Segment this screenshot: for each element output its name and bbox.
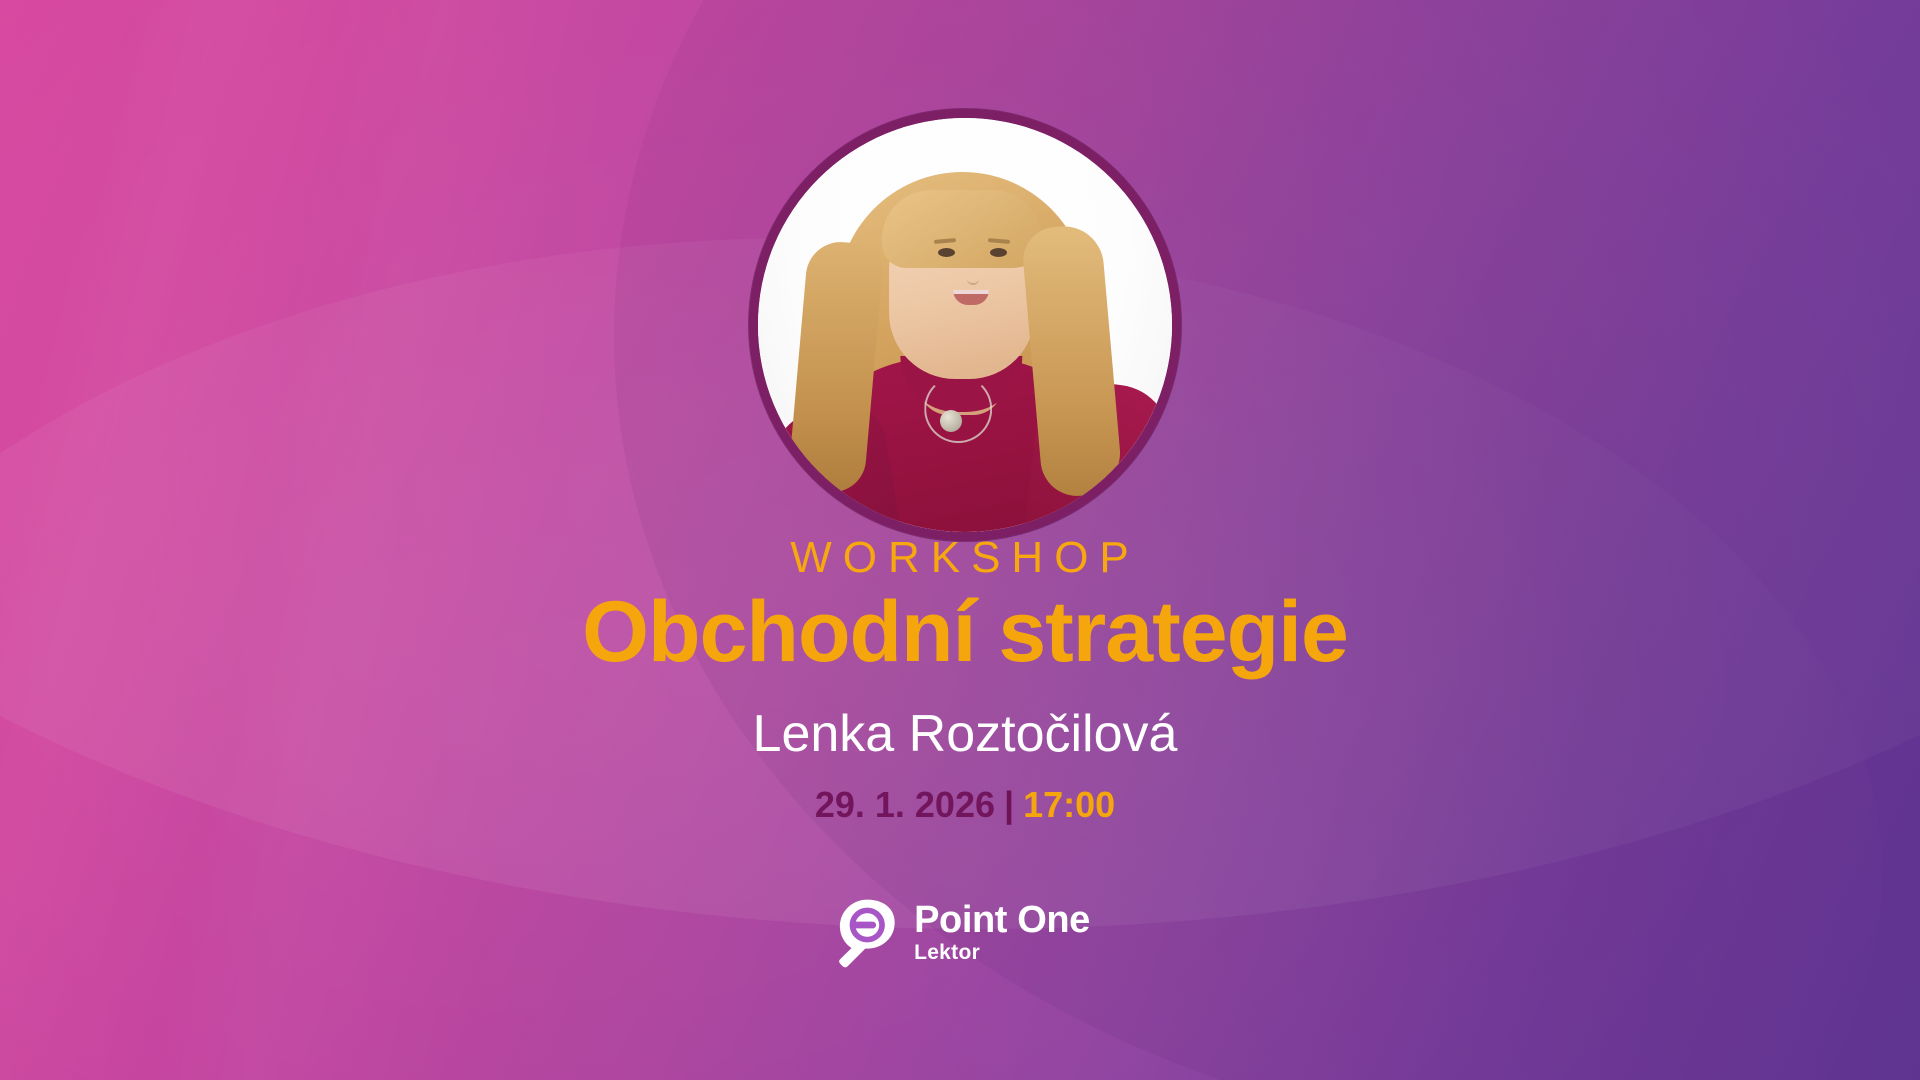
portrait-fringe (882, 190, 1042, 268)
portrait-nose (967, 269, 979, 285)
location-pin-icon (834, 898, 900, 968)
workshop-banner: WORKSHOP Obchodní strategie Lenka Roztoč… (0, 0, 1920, 1080)
event-date: 29. 1. 2026 (815, 782, 995, 827)
datetime-separator: | (1004, 782, 1014, 827)
event-datetime: 29. 1. 2026 | 17:00 (815, 782, 1115, 827)
brand-subtitle: Lektor (914, 941, 1090, 965)
portrait-pendant (940, 410, 962, 432)
brand-name: Point One (914, 901, 1090, 940)
speaker-name: Lenka Roztočilová (753, 703, 1178, 765)
brand-logo: Point One Lektor (834, 898, 1090, 968)
portrait-necklace (924, 375, 992, 443)
banner-content: WORKSHOP Obchodní strategie Lenka Roztoč… (0, 0, 1920, 1080)
event-time: 17:00 (1023, 782, 1115, 827)
eyebrow-label: WORKSHOP (790, 536, 1140, 580)
portrait-photo (758, 118, 1172, 532)
speaker-portrait (749, 109, 1181, 541)
brand-logo-text: Point One Lektor (914, 901, 1090, 966)
page-title: Obchodní strategie (582, 582, 1348, 683)
